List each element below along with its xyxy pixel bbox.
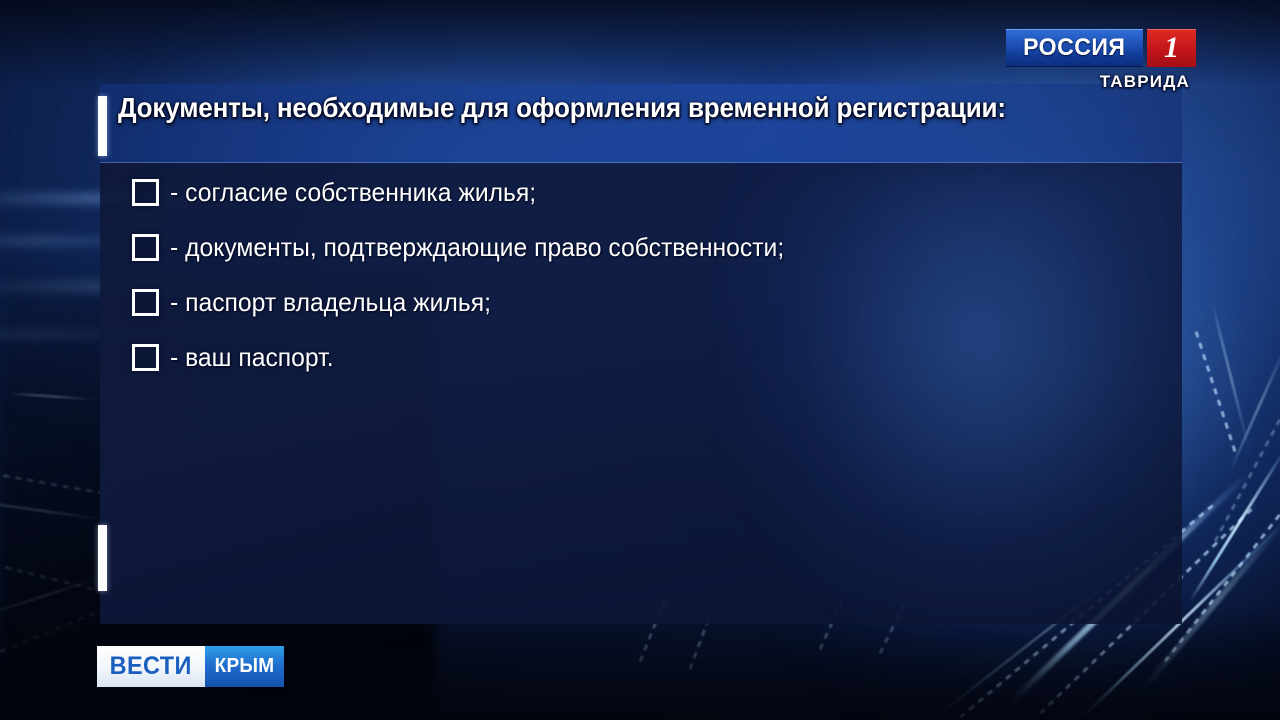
list-item: - согласие собственника жилья; bbox=[132, 177, 1162, 208]
channel-number-label: 1 bbox=[1164, 31, 1179, 65]
channel-name-box: РОССИЯ bbox=[1006, 29, 1143, 67]
channel-name-label: РОССИЯ bbox=[1023, 34, 1125, 62]
accent-bar-top bbox=[98, 96, 107, 156]
list-item-label: - паспорт владельца жилья; bbox=[170, 287, 491, 318]
channel-logo-row: РОССИЯ 1 bbox=[1006, 29, 1196, 67]
channel-region-row: ТАВРИДА bbox=[1006, 69, 1196, 95]
program-logo: ВЕСТИ КРЫМ bbox=[97, 646, 284, 687]
broadcast-frame: Документы, необходимые для оформления вр… bbox=[0, 0, 1280, 720]
list-item-label: - согласие собственника жилья; bbox=[170, 177, 536, 208]
channel-logo: РОССИЯ 1 ТАВРИДА bbox=[1006, 29, 1196, 95]
program-logo-secondary-label: КРЫМ bbox=[215, 655, 275, 678]
document-list: - согласие собственника жилья; - докумен… bbox=[132, 177, 1162, 397]
checkbox-icon bbox=[132, 344, 159, 371]
list-item-label: - документы, подтверждающие право собств… bbox=[170, 232, 784, 263]
checkbox-icon bbox=[132, 289, 159, 316]
list-item: - ваш паспорт. bbox=[132, 342, 1162, 373]
checkbox-icon bbox=[132, 234, 159, 261]
checkbox-icon bbox=[132, 179, 159, 206]
infographic-panel: Документы, необходимые для оформления вр… bbox=[100, 84, 1182, 624]
channel-region-label: ТАВРИДА bbox=[1100, 72, 1190, 92]
channel-number-box: 1 bbox=[1147, 29, 1196, 67]
program-logo-primary-box: ВЕСТИ bbox=[97, 646, 205, 687]
page-title: Документы, необходимые для оформления вр… bbox=[118, 90, 1048, 126]
list-item-label: - ваш паспорт. bbox=[170, 342, 334, 373]
list-item: - паспорт владельца жилья; bbox=[132, 287, 1162, 318]
accent-bar-bottom bbox=[98, 525, 107, 591]
program-logo-primary-label: ВЕСТИ bbox=[110, 652, 192, 681]
program-logo-secondary-box: КРЫМ bbox=[205, 646, 284, 687]
list-item: - документы, подтверждающие право собств… bbox=[132, 232, 1162, 263]
